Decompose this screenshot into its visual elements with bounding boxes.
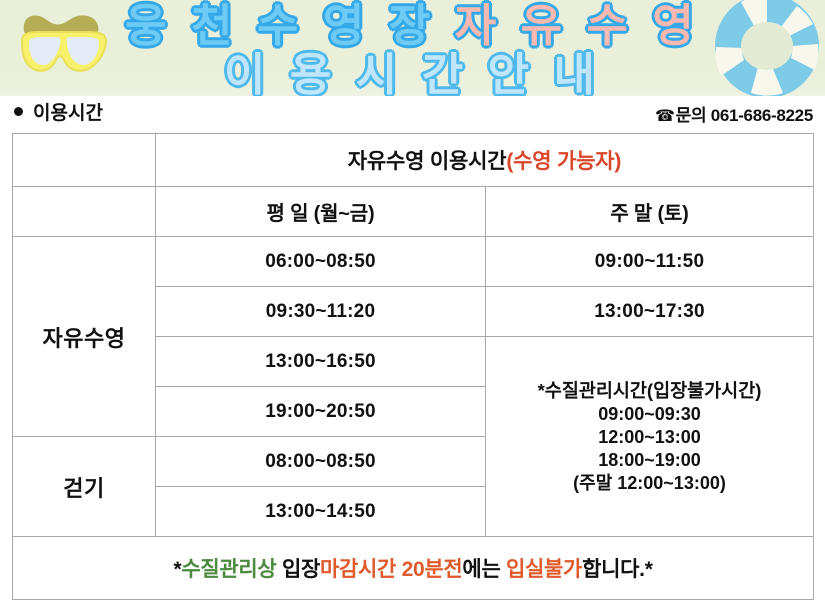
title-part-venue: 웅 천 수 영 장 [125,0,436,51]
poster-root: 웅 천 수 영 장 자 유 수 영 이 용 시 간 안 내 이용시간 ☎문의 0… [0,0,825,577]
title-part-subtitle: 이 용 시 간 안 내 [224,49,601,96]
table-row-main-header: 자유수영 이용시간(수영 가능자) [13,134,814,187]
main-header-cell: 자유수영 이용시간(수영 가능자) [156,134,814,187]
category-free-swim: 자유수영 [13,237,156,437]
poster-title: 웅 천 수 영 장 자 유 수 영 이 용 시 간 안 내 [0,0,825,96]
free-swim-weekday-time-3: 13:00~16:50 [156,337,486,387]
free-swim-weekday-time-4: 19:00~20:50 [156,387,486,437]
walking-weekday-time-1: 08:00~08:50 [156,437,486,487]
weekend-time-1: 09:00~11:50 [486,237,814,287]
water-quality-note-line-3: 18:00~19:00 [490,449,809,472]
footer-part-6: 입실불가 [506,558,582,581]
footer-part-7: 합니다.* [582,558,652,581]
schedule-table-wrapper: 자유수영 이용시간(수영 가능자) 평 일 (월~금) 주 말 (토) 자유수영… [12,133,813,600]
footer-part-5: 에는 [462,558,506,581]
water-quality-note-line-1: 09:00~09:30 [490,403,809,426]
title-line-2: 이 용 시 간 안 내 [0,51,825,96]
contact-phone-text: 문의 061-686-8225 [676,106,813,125]
column-header-weekend: 주 말 (토) [486,187,814,237]
main-header-black: 자유수영 이용시간 [348,150,507,173]
title-part-activity: 자 유 수 영 [455,0,700,51]
swim-goggles-icon [8,6,118,90]
table-row: 자유수영 06:00~08:50 09:00~11:50 [13,237,814,287]
schedule-table: 자유수영 이용시간(수영 가능자) 평 일 (월~금) 주 말 (토) 자유수영… [12,133,814,600]
life-ring-icon [711,0,823,96]
usage-time-label: 이용시간 [33,103,103,124]
header-corner-cell [13,134,156,187]
table-row-sub-header: 평 일 (월~금) 주 말 (토) [13,187,814,237]
water-quality-note-title: *수질관리시간(입장불가시간) [490,379,809,402]
category-walking: 걷기 [13,437,156,537]
telephone-icon: ☎ [655,108,675,125]
weekend-time-2: 13:00~17:30 [486,287,814,337]
free-swim-weekday-time-2: 09:30~11:20 [156,287,486,337]
footer-part-2: 수질관리상 [181,558,276,581]
main-header-red: (수영 가능자) [506,150,621,173]
free-swim-weekday-time-1: 06:00~08:50 [156,237,486,287]
footer-part-3: 입장 [276,558,320,581]
water-quality-note-line-4: (주말 12:00~13:00) [490,472,809,495]
water-quality-note-line-2: 12:00~13:00 [490,426,809,449]
subheader-strip: 이용시간 ☎문의 061-686-8225 [0,96,825,130]
header-banner: 웅 천 수 영 장 자 유 수 영 이 용 시 간 안 내 [0,0,825,96]
column-header-weekday: 평 일 (월~금) [156,187,486,237]
contact-info: ☎문의 061-686-8225 [655,101,813,126]
subheader-corner-cell [13,187,156,237]
footer-note-cell: *수질관리상 입장마감시간 20분전에는 입실불가합니다.* [13,537,814,600]
walking-weekday-time-2: 13:00~14:50 [156,487,486,537]
table-row-footer: *수질관리상 입장마감시간 20분전에는 입실불가합니다.* [13,537,814,600]
bullet-icon [14,107,23,116]
water-quality-note-cell: *수질관리시간(입장불가시간) 09:00~09:30 12:00~13:00 … [486,337,814,537]
footer-part-4: 마감시간 20분전 [320,558,462,581]
usage-time-label-group: 이용시간 [14,98,103,125]
title-line-1: 웅 천 수 영 장 자 유 수 영 [0,0,825,51]
